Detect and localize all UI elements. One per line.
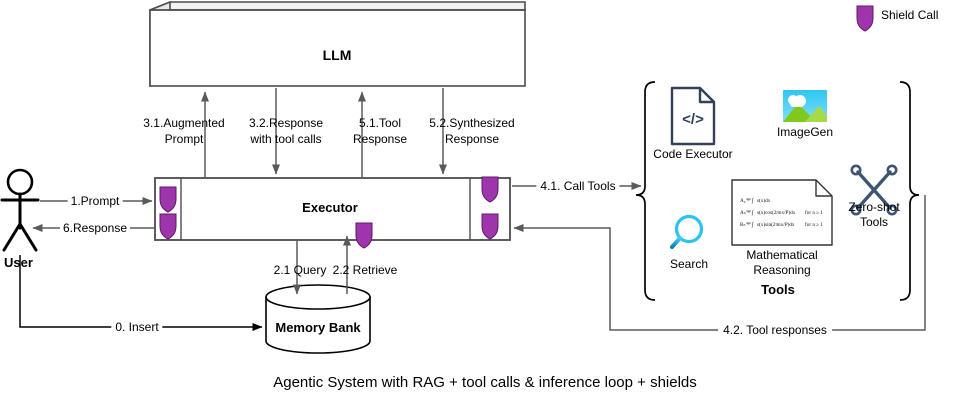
tool-label-math-1: Mathematical [746, 248, 817, 262]
edge-label-tool-responses: 4.2. Tool responses [718, 323, 832, 337]
edge-label-tool-response-2: Response [353, 132, 407, 146]
tool-label-zeroshot-2: Tools [860, 215, 888, 229]
shield-icon [356, 223, 372, 248]
legend-shield-label: Shield Call [881, 8, 938, 22]
executor-label: Executor [302, 200, 358, 215]
edge-label-prompt: 1.Prompt [68, 194, 123, 208]
edge-label-retrieve: 2.2 Retrieve [333, 263, 398, 277]
edge-label-insert: 0. Insert [111, 320, 162, 334]
svg-text:s(x)sin(2πnx/P)dx: s(x)sin(2πnx/P)dx [757, 221, 795, 228]
diagram-canvas: </> A₀ = ∫s(x)dx Aₙ = ∫s(x)cos(2πnx/P)dx… [0, 0, 970, 411]
llm-label: LLM [323, 47, 352, 63]
user-label: User [4, 255, 33, 270]
edge-label-tool-response-1: 5.1.Tool [359, 116, 401, 130]
edge-label-query: 2.1 Query [274, 263, 327, 277]
svg-text:for n ≥ 1: for n ≥ 1 [805, 221, 823, 228]
user-actor [2, 170, 38, 250]
edge-label-response-tool-calls-2: with tool calls [250, 132, 321, 146]
memory-bank-label: Memory Bank [275, 320, 360, 335]
tool-label-search: Search [670, 257, 708, 271]
svg-text:∫: ∫ [751, 221, 754, 228]
memory-bank-node [266, 285, 370, 353]
diagram-caption: Agentic System with RAG + tool calls & i… [273, 374, 697, 391]
tools-brace-right [900, 82, 919, 300]
svg-text:s(x)dx: s(x)dx [757, 197, 771, 204]
edge-label-synthesized-1: 5.2.Synthesized [429, 116, 514, 130]
formula-page-icon: A₀ = ∫s(x)dx Aₙ = ∫s(x)cos(2πnx/P)dxfor … [732, 180, 832, 245]
svg-text:for n ≥ 1: for n ≥ 1 [805, 209, 823, 216]
tools-group-label: Tools [761, 282, 795, 297]
image-picture-icon [783, 90, 827, 122]
shield-icon-legend [857, 6, 873, 31]
tool-label-code-executor: Code Executor [653, 147, 732, 161]
code-document-icon: </> [672, 88, 714, 144]
svg-text:∫: ∫ [751, 209, 754, 216]
llm-node [150, 2, 525, 86]
edge-insert [20, 255, 262, 327]
magnifier-icon [672, 217, 702, 248]
svg-text:∫: ∫ [751, 197, 754, 204]
tool-label-math-2: Reasoning [753, 263, 810, 277]
edge-label-augmented-prompt-2: Prompt [165, 132, 204, 146]
edge-label-augmented-prompt-1: 3.1.Augmented [143, 116, 224, 130]
tools-brace-left [636, 82, 655, 300]
edge-label-response: 6.Response [60, 221, 130, 235]
edge-label-call-tools: 4.1. Call Tools [536, 179, 619, 193]
diagram-svg: </> A₀ = ∫s(x)dx Aₙ = ∫s(x)cos(2πnx/P)dx… [0, 0, 970, 411]
tool-label-imagegen: ImageGen [777, 125, 833, 139]
svg-text:s(x)cos(2πnx/P)dx: s(x)cos(2πnx/P)dx [757, 209, 796, 216]
edge-label-synthesized-2: Response [445, 132, 499, 146]
svg-text:</>: </> [682, 111, 704, 128]
edge-label-response-tool-calls-1: 3.2.Response [249, 116, 323, 130]
tool-label-zeroshot-1: Zero-shot [848, 200, 899, 214]
